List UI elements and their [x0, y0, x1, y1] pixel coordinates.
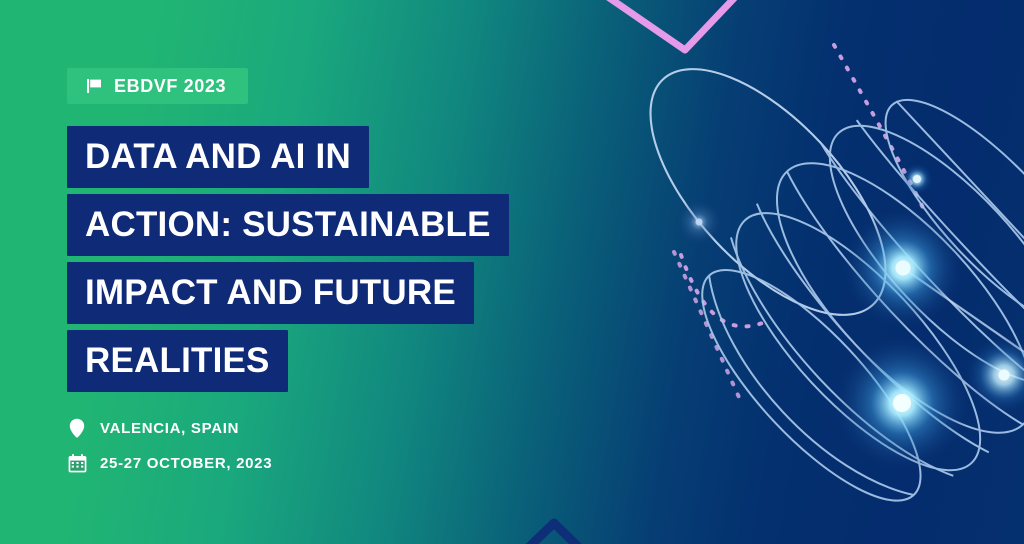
- glow-node-lower: [832, 333, 972, 473]
- event-location-label: VALENCIA, SPAIN: [100, 421, 239, 436]
- event-location: VALENCIA, SPAIN: [67, 418, 587, 438]
- event-date: 25-27 OCTOBER, 2023: [67, 454, 587, 473]
- event-date-label: 25-27 OCTOBER, 2023: [100, 456, 272, 471]
- title-line-2: ACTION: SUSTAINABLE: [67, 194, 509, 256]
- event-meta: VALENCIA, SPAIN: [67, 418, 587, 473]
- title-line-4: REALITIES: [67, 330, 288, 392]
- location-pin-icon: [67, 418, 87, 438]
- glow-node-center: [841, 206, 965, 330]
- wireframe-rim-ellipse: [610, 30, 925, 353]
- event-badge-label: EBDVF 2023: [114, 77, 226, 95]
- event-badge: EBDVF 2023: [67, 68, 248, 104]
- banner-content: EBDVF 2023 DATA AND AI IN ACTION: SUSTAI…: [67, 68, 587, 473]
- event-banner: EBDVF 2023 DATA AND AI IN ACTION: SUSTAI…: [0, 0, 1024, 544]
- wireframe-mesh: [655, 54, 1024, 544]
- chevron-accent-top: [592, 0, 757, 50]
- title-line-3: IMPACT AND FUTURE: [67, 262, 474, 324]
- chevron-accent-bottom: [505, 523, 604, 544]
- glow-node-small-top: [901, 163, 933, 195]
- flag-icon: [85, 77, 103, 95]
- page-title: DATA AND AI IN ACTION: SUSTAINABLE IMPAC…: [67, 126, 587, 392]
- dotted-path-upper: [834, 45, 926, 214]
- glow-node-dim-left: [675, 198, 723, 246]
- title-line-1: DATA AND AI IN: [67, 126, 369, 188]
- calendar-icon: [67, 454, 87, 473]
- dotted-path-lower: [681, 255, 765, 326]
- glow-node-right: [964, 335, 1024, 415]
